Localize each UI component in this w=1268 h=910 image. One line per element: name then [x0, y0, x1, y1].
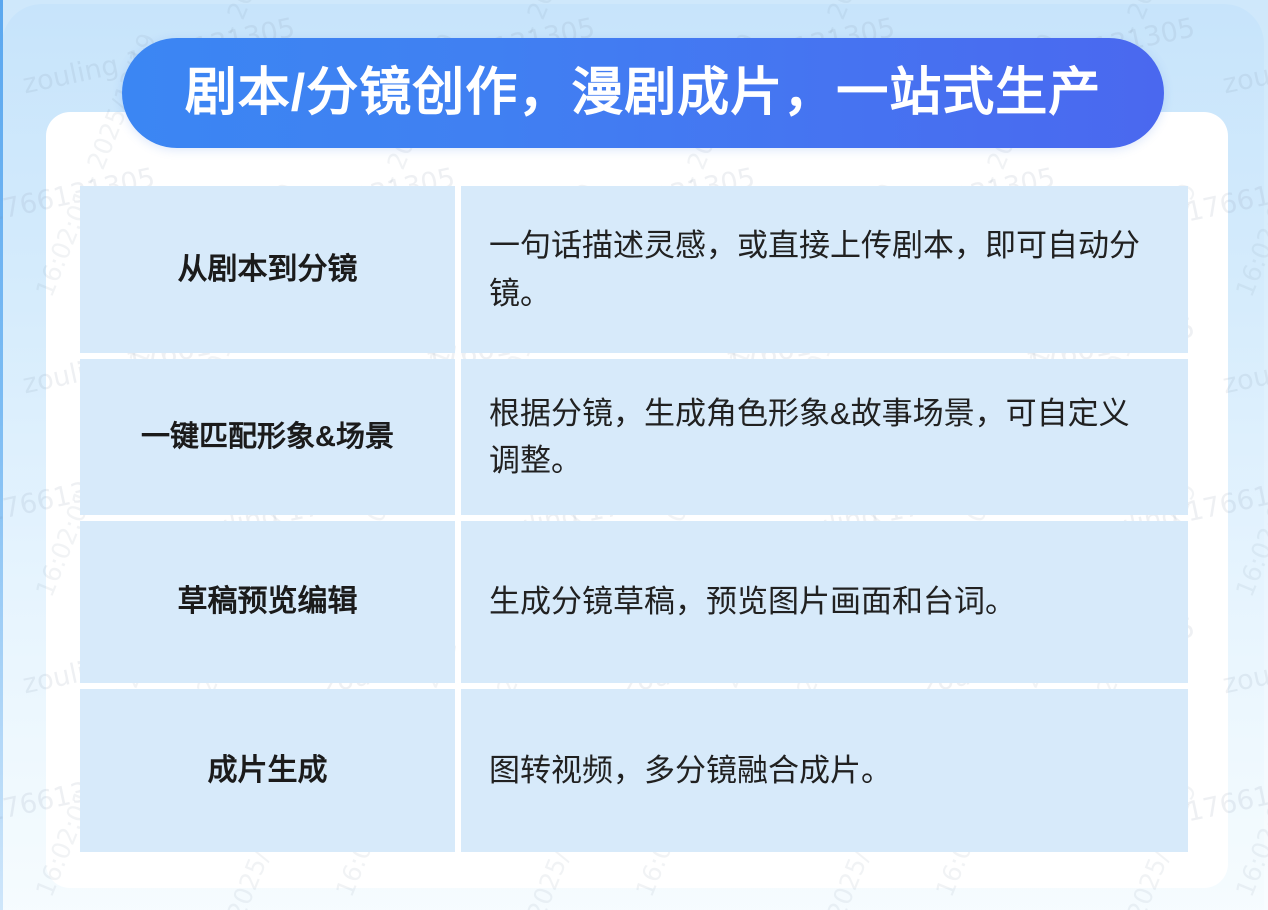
feature-label-cell: 成片生成 [80, 689, 455, 852]
page-title: 剧本/分镜创作，漫剧成片，一站式生产 [185, 67, 1101, 119]
table-row: 成片生成 图转视频，多分镜融合成片。 [80, 689, 1188, 852]
feature-label: 成片生成 [208, 752, 328, 790]
feature-description: 根据分镜，生成角色形象&故事场景，可自定义调整。 [489, 390, 1158, 484]
feature-label: 从剧本到分镜 [178, 251, 358, 289]
feature-label: 一键匹配形象&场景 [141, 419, 394, 455]
feature-description-cell: 根据分镜，生成角色形象&故事场景，可自定义调整。 [461, 359, 1188, 515]
watermark-text-alt: 16:02:01 - 2025/12/19 [330, 0, 462, 1]
table-row: 一键匹配形象&场景 根据分镜，生成角色形象&故事场景，可自定义调整。 [80, 359, 1188, 515]
feature-description-cell: 生成分镜草稿，预览图片画面和台词。 [461, 521, 1188, 683]
watermark-text-alt: 16:02:01 - 2025/12/19 [1230, 0, 1268, 1]
feature-description: 图转视频，多分镜融合成片。 [489, 747, 892, 794]
feature-description: 生成分镜草稿，预览图片画面和台词。 [489, 578, 1016, 625]
table-row: 从剧本到分镜 一句话描述灵感，或直接上传剧本，即可自动分镜。 [80, 186, 1188, 353]
left-accent-rule [0, 0, 3, 910]
feature-label: 草稿预览编辑 [178, 583, 358, 621]
feature-table: 从剧本到分镜 一句话描述灵感，或直接上传剧本，即可自动分镜。 一键匹配形象&场景… [80, 186, 1188, 852]
feature-label-cell: 从剧本到分镜 [80, 186, 455, 353]
banner-title-pill: 剧本/分镜创作，漫剧成片，一站式生产 [122, 38, 1164, 148]
feature-label-cell: 一键匹配形象&场景 [80, 359, 455, 515]
feature-description: 一句话描述灵感，或直接上传剧本，即可自动分镜。 [489, 222, 1158, 316]
poster-canvas: zouling 176613130516:02:01 - 2025/12/19z… [0, 0, 1268, 910]
feature-description-cell: 图转视频，多分镜融合成片。 [461, 689, 1188, 852]
watermark-text-alt: 16:02:01 - 2025/12/19 [30, 0, 162, 1]
watermark-text-alt: 16:02:01 - 2025/12/19 [930, 0, 1062, 1]
watermark-text-alt: 16:02:01 - 2025/12/19 [630, 0, 762, 1]
table-row: 草稿预览编辑 生成分镜草稿，预览图片画面和台词。 [80, 521, 1188, 683]
feature-description-cell: 一句话描述灵感，或直接上传剧本，即可自动分镜。 [461, 186, 1188, 353]
feature-label-cell: 草稿预览编辑 [80, 521, 455, 683]
